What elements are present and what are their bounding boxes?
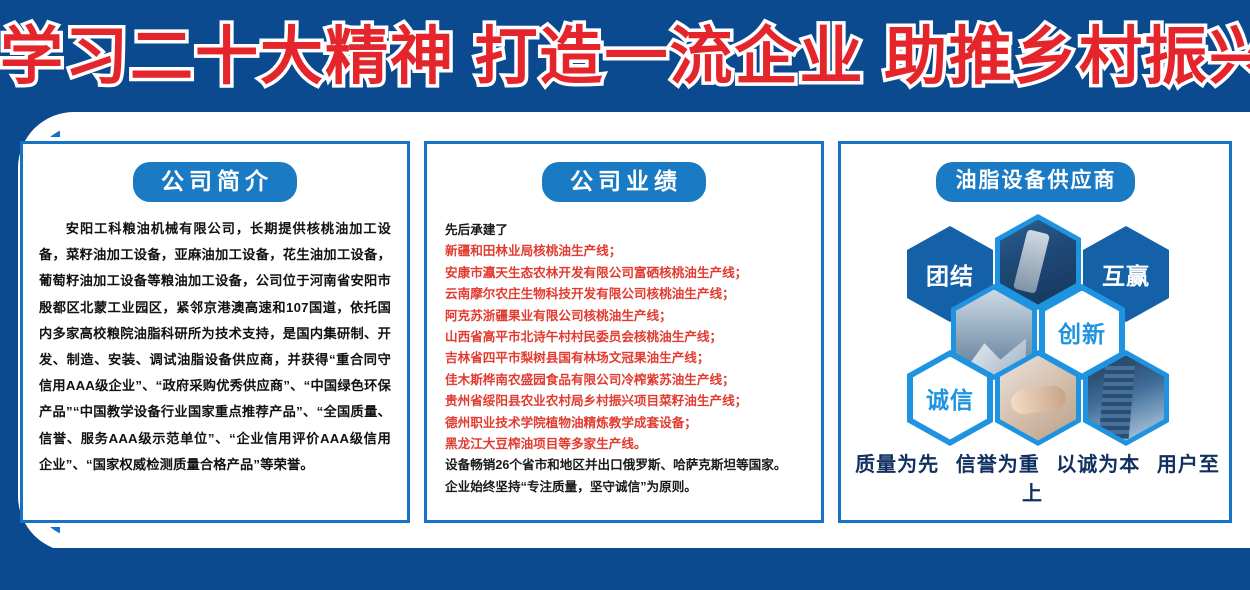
project-item: 阿克苏浙疆果业有限公司核桃油生产线；: [445, 306, 807, 327]
hex-label: 团结: [926, 257, 974, 291]
project-item: 佳木斯桦南农盛园食品有限公司冷榨紫苏油生产线；: [445, 370, 807, 391]
company-profile-body: 安阳工科粮油机械有限公司，长期提供核桃油加工设备，菜籽油加工设备，亚麻油加工设备…: [39, 221, 391, 472]
panel-title-company-profile: 公司简介: [133, 162, 297, 202]
project-item: 德州职业技术学院植物油精炼教学成套设备；: [445, 413, 807, 434]
bottom-navy-band: [0, 548, 1250, 590]
hex-label: 互赢: [1102, 257, 1150, 291]
achievements-footer-line: 企业始终坚持“专注质量，坚守诚信”为原则。: [445, 477, 807, 498]
skyscraper-icon: [1088, 356, 1164, 441]
panel-supplier-values: 油脂设备供应商 团结 互赢 创新 诚信: [838, 141, 1232, 523]
company-profile-text: 安阳工科粮油机械有限公司，长期提供核桃油加工设备，菜籽油加工设备，亚麻油加工设备…: [39, 216, 391, 478]
achievements-footer-line: 设备畅销26个省市和地区并出口俄罗斯、哈萨克斯坦等国家。: [445, 455, 807, 476]
panel-company-achievements: 公司业绩 先后承建了 新疆和田林业局核桃油生产线； 安康市瀛天生态农林开发有限公…: [424, 141, 824, 523]
project-item: 新疆和田林业局核桃油生产线；: [445, 241, 807, 262]
hexagon-cluster: 团结 互赢 创新 诚信: [841, 210, 1229, 446]
page-title: 学习二十大精神 打造一流企业 助推乡村振兴: [0, 22, 1250, 92]
project-item: 山西省高平市北诗午村村民委员会核桃油生产线；: [445, 327, 807, 348]
project-item: 黑龙江大豆榨油项目等多家生产线。: [445, 434, 807, 455]
project-item: 安康市瀛天生态农林开发有限公司富硒核桃油生产线；: [445, 263, 807, 284]
panel-title-supplier: 油脂设备供应商: [936, 162, 1135, 202]
panel-row: 公司简介 安阳工科粮油机械有限公司，长期提供核桃油加工设备，菜籽油加工设备，亚麻…: [20, 141, 1236, 523]
panel-title-company-achievements: 公司业绩: [542, 162, 706, 202]
achievements-intro: 先后承建了: [445, 220, 807, 241]
slogan-part: 以诚为本: [1056, 454, 1140, 476]
hex-label: 诚信: [913, 357, 987, 440]
poster-root: 学习二十大精神 打造一流企业 助推乡村振兴 公司简介 安阳工科粮油机械有限公司，…: [0, 0, 1250, 590]
supplier-slogan: 质量为先 信誉为重 以诚为本 用户至上: [841, 448, 1229, 506]
achievements-list: 先后承建了 新疆和田林业局核桃油生产线； 安康市瀛天生态农林开发有限公司富硒核桃…: [445, 220, 807, 498]
slogan-part: 质量为先: [855, 454, 939, 476]
aircraft-carrier-icon: [1000, 220, 1076, 305]
slogan-part: 信誉为重: [956, 454, 1040, 476]
panel-company-profile: 公司简介 安阳工科粮油机械有限公司，长期提供核桃油加工设备，菜籽油加工设备，亚麻…: [20, 141, 410, 523]
project-item: 云南摩尔农庄生物科技开发有限公司核桃油生产线；: [445, 284, 807, 305]
handshake-icon: [1000, 356, 1076, 441]
project-item: 吉林省四平市梨树县国有林场文冠果油生产线；: [445, 348, 807, 369]
project-item: 贵州省绥阳县农业农村局乡村振兴项目菜籽油生产线；: [445, 391, 807, 412]
